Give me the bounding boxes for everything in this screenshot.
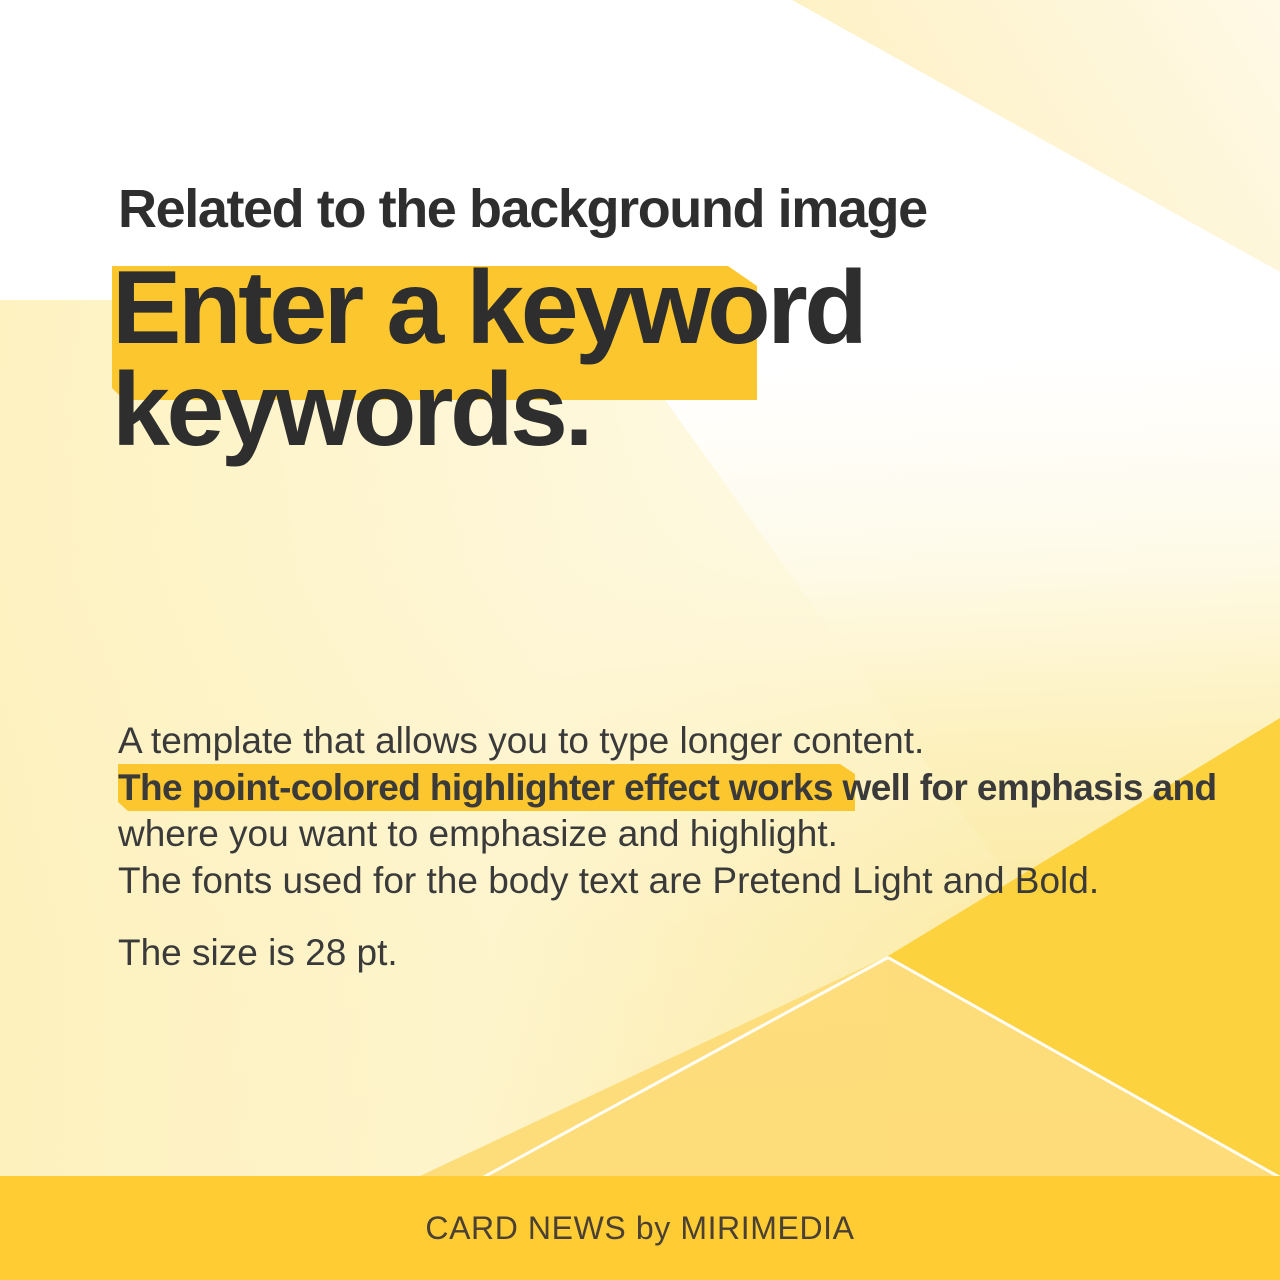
body-size-note: The size is 28 pt. <box>118 930 1218 977</box>
body-line-4: The fonts used for the body text are Pre… <box>118 858 1218 905</box>
body-spacer <box>118 904 1218 930</box>
footer-bar: CARD NEWS by MIRIMEDIA <box>0 1176 1280 1280</box>
body-text-block: A template that allows you to type longe… <box>118 718 1218 977</box>
headline-block: Enter a keyword keywords. <box>112 258 1162 462</box>
body-line-3: where you want to emphasize and highligh… <box>118 811 1218 858</box>
headline-line-1: Enter a keyword <box>112 258 1162 360</box>
slide-content: Related to the background image Enter a … <box>0 0 1280 1280</box>
eyebrow-heading: Related to the background image <box>118 178 927 240</box>
body-line-1: A template that allows you to type longe… <box>118 718 1218 765</box>
page-title: Enter a keyword keywords. <box>112 258 1162 462</box>
footer-credit-label: CARD NEWS by MIRIMEDIA <box>425 1210 854 1247</box>
card-news-slide: Related to the background image Enter a … <box>0 0 1280 1280</box>
body-line-2-highlighted: The point-colored highlighter effect wor… <box>118 765 1218 812</box>
headline-line-2: keywords. <box>112 360 1162 462</box>
